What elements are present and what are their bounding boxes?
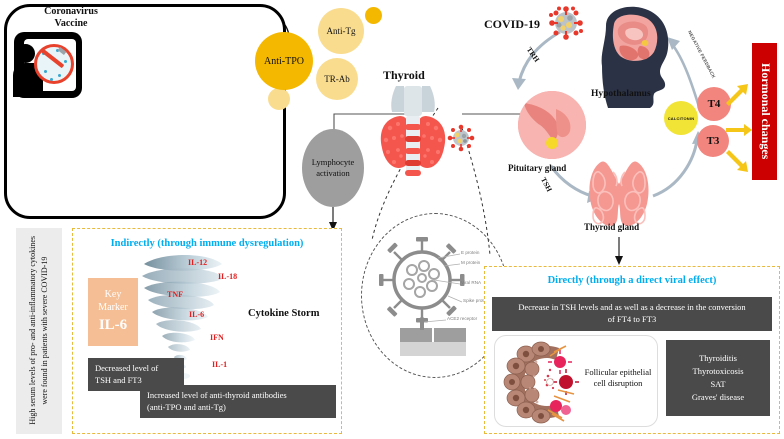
disease-item-graves: Graves' disease — [692, 391, 744, 404]
thyroid-diseases-box: Thyroiditis Thyrotoxicosis SAT Graves' d… — [666, 340, 770, 416]
label-viral-rna: Viral RNA — [461, 280, 481, 285]
tsh-decrease-box: Decrease in TSH levels and as well as a … — [492, 297, 772, 331]
cytokine-label-ifn: IFN — [210, 333, 224, 342]
bubble-tr-ab: TR-Ab — [316, 58, 358, 100]
pituitary-gland-label: Pituitary gland — [508, 163, 566, 173]
hormone-circle-t3: T3 — [697, 125, 729, 157]
serum-cytokine-note-text: High serum levels of pro- and anti-infla… — [27, 234, 51, 428]
label-e-protein: E protein — [461, 250, 479, 255]
hormonal-output-arrows — [726, 75, 754, 185]
disease-item-thyrotoxicosis: Thyrotoxicosis — [693, 365, 744, 378]
virus-anatomy-labels: E protein M protein Viral RNA Spike prot… — [374, 228, 494, 358]
bubble-decor-small-2 — [268, 88, 290, 110]
cytokine-label-tnf: TNF — [167, 290, 183, 299]
follicular-epithelium-illustration — [504, 342, 588, 422]
vaccine-title-line2: Vaccine — [16, 18, 126, 30]
disease-item-thyroiditis: Thyroiditis — [699, 352, 737, 365]
label-m-protein: M protein — [461, 260, 480, 265]
diagram-canvas: Coronavirus Vaccine Destruction of thyro… — [0, 0, 784, 439]
increased-antibodies-box: Increased level of anti-thyroid antibodi… — [140, 385, 336, 418]
cytokine-label-il6: IL-6 — [189, 310, 204, 319]
sars-cov2-virion-icon-large — [548, 5, 584, 41]
cytokine-label-il1: IL-1 — [212, 360, 227, 369]
pituitary-gland-illustration — [518, 91, 586, 159]
disease-item-sat: SAT — [710, 378, 725, 391]
bubble-anti-tg: Anti-Tg — [318, 8, 364, 54]
cytokine-label-il18: IL-18 — [218, 272, 237, 281]
hormonal-changes-text: Hormonal changes — [753, 44, 778, 179]
follicular-disruption-label: Follicular epithelial cell disruption — [582, 367, 654, 390]
indirect-panel-header: Indirectly (through immune dysregulation… — [78, 238, 336, 249]
label-ace2-receptor: ACE2 receptor — [447, 316, 477, 321]
covid19-label: COVID-19 — [484, 17, 540, 32]
thyroid-organ-illustration — [374, 84, 452, 184]
direct-panel-header: Directly (through a direct viral effect) — [490, 275, 774, 286]
cytokine-label-il12: IL-12 — [188, 258, 207, 267]
sars-cov2-virion-icon-small — [447, 124, 475, 152]
coronavirus-vaccine-title: Coronavirus Vaccine — [16, 6, 126, 29]
thyroid-gland-label: Thyroid gland — [584, 222, 639, 232]
thyroid-label: Thyroid — [383, 68, 425, 83]
key-marker-box: Key Marker IL-6 — [88, 278, 138, 346]
vaccination-icon — [14, 32, 82, 98]
cytokine-storm-label: Cytokine Storm — [248, 308, 319, 319]
serum-cytokine-note: High serum levels of pro- and anti-infla… — [16, 228, 62, 434]
vaccine-title-line1: Coronavirus — [16, 6, 126, 18]
lymphocyte-activation-node: Lymphocyte activation — [302, 129, 364, 207]
hormone-circle-calcitonin: CALCITONIN — [664, 101, 698, 135]
bubble-anti-tpo: Anti-TPO — [255, 32, 313, 90]
key-marker-value: IL-6 — [99, 316, 127, 336]
bubble-decor-small-1 — [365, 7, 382, 24]
hormonal-changes-banner: Hormonal changes — [752, 43, 777, 180]
hypothalamus-label: Hypothalamus — [591, 89, 651, 99]
